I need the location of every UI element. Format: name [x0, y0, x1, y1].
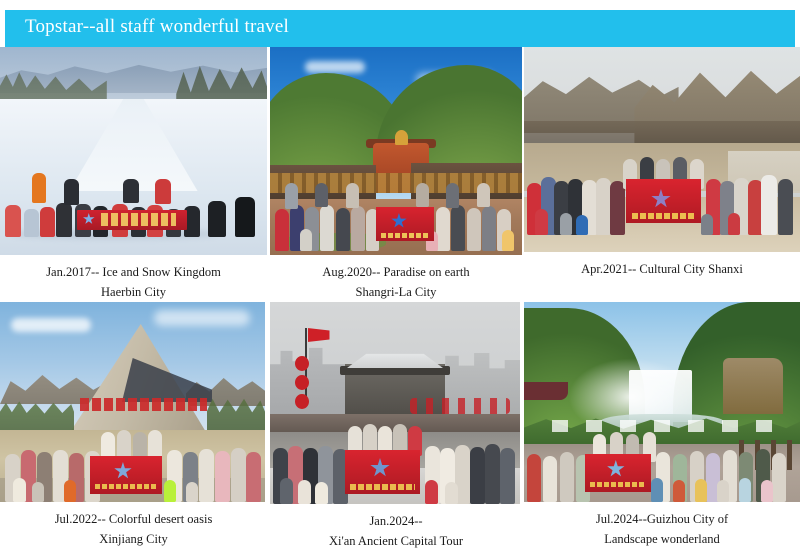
banner-text-glyphs: [350, 484, 415, 490]
page-header-banner: Topstar--all staff wonderful travel: [5, 10, 795, 47]
photo-grid-row-1: Jan.2017-- Ice and Snow Kingdom Haerbin …: [0, 47, 800, 302]
caption-line-2: Xinjiang City: [0, 529, 267, 549]
photo-shangrila[interactable]: [270, 47, 522, 255]
caption-line-1: Aug.2020-- Paradise on earth: [270, 262, 522, 282]
caption-line-1: Jan.2024--: [270, 511, 522, 531]
gallery-item-shangrila[interactable]: Aug.2020-- Paradise on earth Shangri-La …: [270, 47, 522, 302]
pavilion-awning: [524, 382, 568, 400]
caption-line-2: Shangri-La City: [270, 282, 522, 302]
banner-text-glyphs: [101, 213, 176, 226]
photo-xinjiang[interactable]: [0, 302, 265, 502]
caption-xinjiang: Jul.2022-- Colorful desert oasis Xinjian…: [0, 502, 267, 549]
monument-chinese-sign: [80, 398, 207, 411]
page-title: Topstar--all staff wonderful travel: [25, 16, 289, 38]
lantern-column: [295, 356, 309, 410]
cloud: [154, 310, 250, 326]
gallery-item-harbin[interactable]: Jan.2017-- Ice and Snow Kingdom Haerbin …: [0, 47, 267, 302]
caption-xian: Jan.2024-- Xi'an Ancient Capital Tour: [270, 504, 522, 551]
photo-grid-row-2: Jul.2022-- Colorful desert oasis Xinjian…: [0, 302, 800, 557]
banner-text-glyphs: [95, 484, 156, 489]
caption-line-1: Jul.2022-- Colorful desert oasis: [0, 509, 267, 529]
caption-shangrila: Aug.2020-- Paradise on earth Shangri-La …: [270, 255, 522, 302]
gallery-item-guizhou[interactable]: Jul.2024--Guizhou City of Landscape wond…: [524, 302, 800, 557]
gallery-item-xian[interactable]: Jan.2024-- Xi'an Ancient Capital Tour: [270, 302, 522, 557]
photo-grid: Jan.2017-- Ice and Snow Kingdom Haerbin …: [0, 47, 800, 557]
caption-line-1: Jan.2017-- Ice and Snow Kingdom: [0, 262, 267, 282]
caption-line-1: Apr.2021-- Cultural City Shanxi: [524, 259, 800, 279]
caption-line-1: Jul.2024--Guizhou City of: [524, 509, 800, 529]
caption-shanxi: Apr.2021-- Cultural City Shanxi: [524, 252, 800, 279]
gallery-item-shanxi[interactable]: Apr.2021-- Cultural City Shanxi: [524, 47, 800, 302]
caption-line-2: Landscape wonderland: [524, 529, 800, 549]
photo-shanxi[interactable]: [524, 47, 800, 252]
caption-guizhou: Jul.2024--Guizhou City of Landscape wond…: [524, 502, 800, 549]
travel-gallery-page: Topstar--all staff wonderful travel: [0, 0, 800, 557]
photo-xian[interactable]: [270, 302, 520, 504]
caption-line-2: Haerbin City: [0, 282, 267, 302]
banner-text-glyphs: [590, 482, 645, 487]
caption-line-2: Xi'an Ancient Capital Tour: [270, 531, 522, 551]
cloud: [305, 61, 365, 73]
cloud: [11, 318, 91, 332]
photo-harbin[interactable]: [0, 47, 267, 255]
handheld-signs: [552, 420, 773, 432]
banner-text-glyphs: [381, 233, 429, 238]
photo-guizhou[interactable]: [524, 302, 800, 502]
banner-text-glyphs: [632, 213, 695, 219]
gallery-item-xinjiang[interactable]: Jul.2022-- Colorful desert oasis Xinjian…: [0, 302, 267, 557]
rock-cliff: [723, 358, 784, 414]
caption-harbin: Jan.2017-- Ice and Snow Kingdom Haerbin …: [0, 255, 267, 302]
